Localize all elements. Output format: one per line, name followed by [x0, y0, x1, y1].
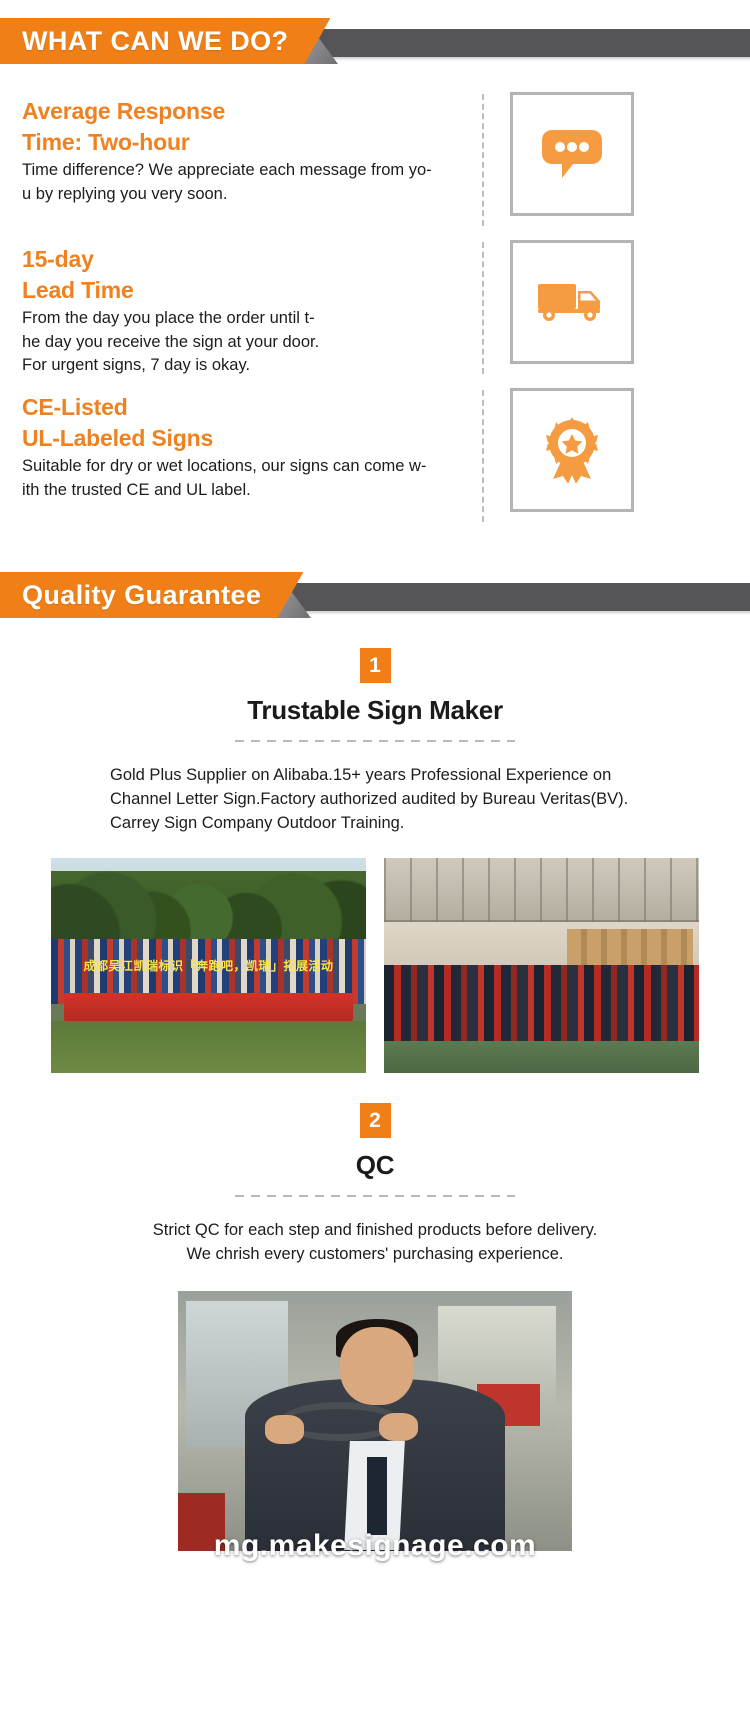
paragraph-line: Gold Plus Supplier on Alibaba.15+ years … [110, 764, 640, 788]
feature-row: Average Response Time: Two-hour Time dif… [0, 86, 750, 234]
feature-body: Time difference? We appreciate each mess… [22, 159, 472, 206]
quality-block-1: 1 Trustable Sign Maker Gold Plus Supplie… [0, 618, 750, 1073]
product-detail-page: WHAT CAN WE DO? Average Response Time: T… [0, 0, 750, 1569]
dashed-rule [235, 740, 515, 742]
feature-body-line: he day you receive the sign at your door… [22, 331, 472, 354]
block-number-badge: 2 [360, 1103, 391, 1138]
feature-body-line: From the day you place the order until t… [22, 307, 472, 330]
feature-title-line: UL-Labeled Signs [22, 423, 472, 454]
feature-body-line: ith the trusted CE and UL label. [22, 479, 472, 502]
quality-block-2: 2 QC Strict QC for each step and finishe… [0, 1073, 750, 1551]
paragraph-line: Strict QC for each step and finished pro… [95, 1219, 655, 1243]
feature-icon-box [510, 92, 634, 216]
feature-title: 15-day Lead Time [22, 244, 472, 305]
dashed-divider [482, 390, 484, 522]
feature-body-line: u by replying you very soon. [22, 183, 472, 206]
block-title: QC [0, 1150, 750, 1181]
photo-banner-caption: 成都吴江凯瑞标识「奔跑吧，凯瑞」拓展活动 [51, 858, 366, 1073]
photo-gallery [0, 1291, 750, 1551]
dashed-divider [482, 94, 484, 226]
photo-gallery: 成都吴江凯瑞标识「奔跑吧，凯瑞」拓展活动 [0, 858, 750, 1073]
block-number-badge: 1 [360, 648, 391, 683]
banner-orange-tab: WHAT CAN WE DO? [0, 18, 330, 64]
feature-icon-box [510, 388, 634, 512]
feature-list: Average Response Time: Two-hour Time dif… [0, 64, 750, 530]
award-ribbon-icon [541, 417, 603, 483]
feature-title-line: Time: Two-hour [22, 127, 472, 158]
feature-body-line: For urgent signs, 7 day is okay. [22, 354, 472, 377]
feature-body-line: Suitable for dry or wet locations, our s… [22, 455, 472, 478]
section-banner-quality-guarantee: Quality Guarantee [0, 572, 750, 618]
dashed-divider [482, 242, 484, 374]
feature-title-line: Lead Time [22, 275, 472, 306]
block-title: Trustable Sign Maker [0, 695, 750, 726]
feature-title-line: 15-day [22, 244, 472, 275]
feature-body-line: Time difference? We appreciate each mess… [22, 159, 472, 182]
feature-body: From the day you place the order until t… [22, 307, 472, 377]
feature-text: 15-day Lead Time From the day you place … [22, 234, 472, 382]
dashed-rule [235, 1195, 515, 1197]
speech-bubble-icon [542, 128, 602, 180]
feature-row: CE-Listed UL-Labeled Signs Suitable for … [0, 382, 750, 530]
feature-title: Average Response Time: Two-hour [22, 96, 472, 157]
paragraph-line: Channel Letter Sign.Factory authorized a… [110, 788, 640, 812]
block-paragraph: Strict QC for each step and finished pro… [95, 1219, 655, 1267]
feature-title-line: CE-Listed [22, 392, 472, 423]
banner-title: Quality Guarantee [22, 580, 261, 611]
paragraph-line: We chrish every customers' purchasing ex… [95, 1243, 655, 1267]
photo-team-outdoor-training: 成都吴江凯瑞标识「奔跑吧，凯瑞」拓展活动 [51, 858, 366, 1073]
section-banner-what-can-we-do: WHAT CAN WE DO? [0, 18, 750, 64]
feature-title: CE-Listed UL-Labeled Signs [22, 392, 472, 453]
feature-row: 15-day Lead Time From the day you place … [0, 234, 750, 382]
banner-orange-tab: Quality Guarantee [0, 572, 303, 618]
paragraph-line: Carrey Sign Company Outdoor Training. [110, 812, 640, 836]
feature-body: Suitable for dry or wet locations, our s… [22, 455, 472, 502]
delivery-truck-icon [536, 278, 608, 326]
photo-staff-in-workshop [384, 858, 699, 1073]
feature-text: CE-Listed UL-Labeled Signs Suitable for … [22, 382, 472, 530]
photo-qc-inspection [178, 1291, 572, 1551]
block-paragraph: Gold Plus Supplier on Alibaba.15+ years … [110, 764, 640, 836]
feature-text: Average Response Time: Two-hour Time dif… [22, 86, 472, 234]
feature-title-line: Average Response [22, 96, 472, 127]
banner-title: WHAT CAN WE DO? [22, 26, 288, 57]
feature-icon-box [510, 240, 634, 364]
